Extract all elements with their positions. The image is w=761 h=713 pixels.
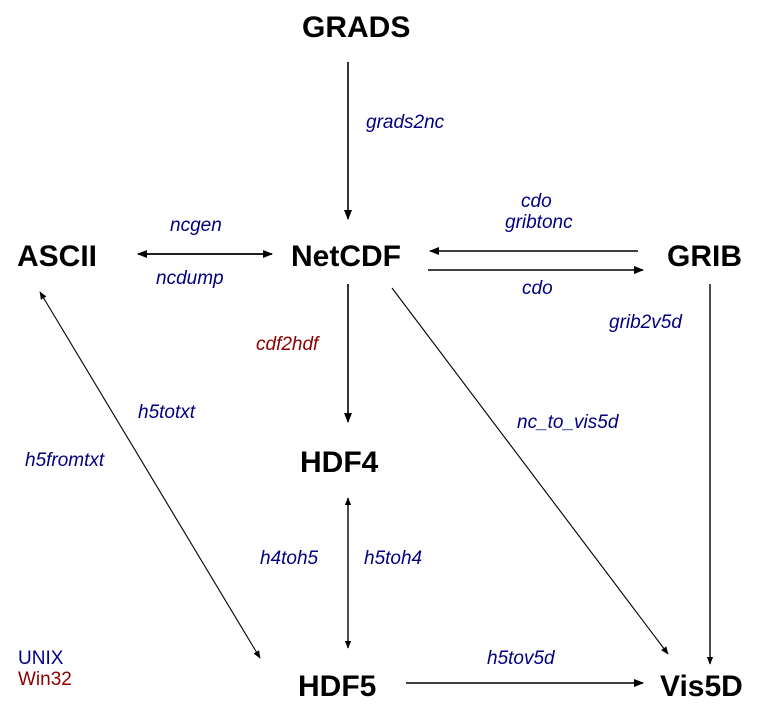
legend-win32: Win32 <box>18 669 72 690</box>
edge-label-h4toh5: h4toh5 <box>260 548 318 569</box>
diagram-canvas: GRADS ASCII NetCDF GRIB HDF4 HDF5 Vis5D … <box>0 0 761 713</box>
edge-label-cdf2hdf: cdf2hdf <box>256 334 318 355</box>
edge-netcdf-to-vis5d <box>392 288 668 654</box>
edge-label-nc-to-vis5d: nc_to_vis5d <box>517 412 618 433</box>
node-hdf5[interactable]: HDF5 <box>298 672 376 702</box>
edge-label-h5toh4: h5toh4 <box>364 548 422 569</box>
edge-label-h5totxt: h5totxt <box>138 402 195 423</box>
node-vis5d[interactable]: Vis5D <box>660 672 743 702</box>
edge-label-h5tov5d: h5tov5d <box>487 648 555 669</box>
edge-label-grib2v5d: grib2v5d <box>609 312 682 333</box>
diagram-edges-layer <box>0 0 761 713</box>
node-hdf4[interactable]: HDF4 <box>300 448 378 478</box>
node-grads[interactable]: GRADS <box>302 13 410 43</box>
edge-ascii-hdf5 <box>40 292 260 658</box>
node-netcdf[interactable]: NetCDF <box>291 242 401 272</box>
node-ascii[interactable]: ASCII <box>17 242 97 272</box>
edge-label-h5fromtxt: h5fromtxt <box>25 450 104 471</box>
node-grib[interactable]: GRIB <box>667 242 742 272</box>
edge-label-grads2nc: grads2nc <box>366 112 444 133</box>
edge-label-gribtonc: gribtonc <box>505 212 573 233</box>
edge-label-cdo-bottom: cdo <box>522 278 553 299</box>
legend-unix: UNIX <box>18 648 63 669</box>
edge-label-cdo-top: cdo <box>521 191 552 212</box>
edge-label-ncgen: ncgen <box>170 215 222 236</box>
edge-label-ncdump: ncdump <box>156 268 224 289</box>
